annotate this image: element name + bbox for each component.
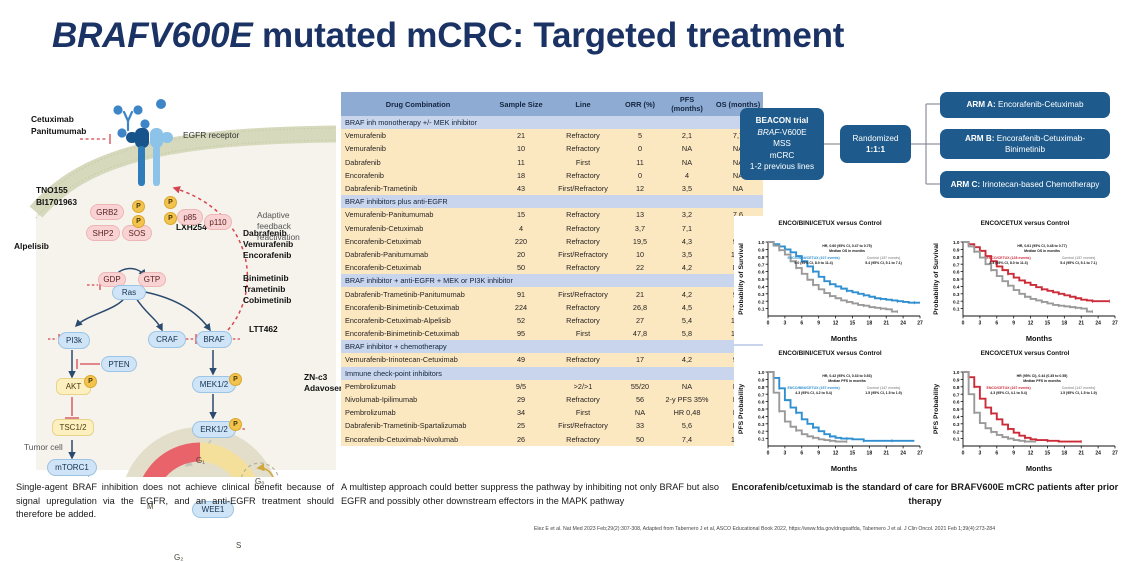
page-title-italic: BRAFV600E — [52, 16, 253, 55]
svg-text:ENCO/BINI/CETUX versus Control: ENCO/BINI/CETUX versus Control — [778, 220, 882, 227]
table-body: BRAF inh monotherapy +/- MEK inhibitorVe… — [341, 116, 763, 446]
svg-text:PFS Probability: PFS Probability — [738, 384, 745, 434]
cell-pfs: 3,5 — [661, 182, 713, 195]
svg-text:24: 24 — [900, 320, 906, 326]
cell-line: >2/>1 — [547, 380, 619, 393]
svg-text:Control (147 events): Control (147 events) — [867, 386, 901, 390]
cell-drug: Vemurafenib — [341, 129, 495, 142]
svg-text:0: 0 — [962, 450, 965, 456]
phospho-marker-icon-4: P — [164, 212, 177, 225]
cell-orr: 33 — [619, 419, 661, 432]
km-plot-svg: 0.10.20.30.40.50.60.70.80.91.00369121518… — [929, 346, 1121, 474]
page-title-rest: mutated mCRC: Targeted treatment — [253, 16, 845, 55]
svg-text:1.5 (95% CI, 1.5 to 1.9): 1.5 (95% CI, 1.5 to 1.9) — [865, 391, 902, 395]
cell-sample-size: 43 — [495, 182, 547, 195]
cell-orr: 5 — [619, 129, 661, 142]
tumor-cell-label: Tumor cell — [24, 442, 63, 453]
cell-sample-size: 34 — [495, 406, 547, 419]
svg-text:0.3: 0.3 — [758, 292, 765, 297]
cell-sample-size: 9/5 — [495, 380, 547, 393]
svg-text:27: 27 — [1112, 450, 1118, 456]
cell-pfs: NA — [661, 142, 713, 155]
arm-a-text: Encorafenib-Cetuximab — [996, 100, 1084, 109]
encorafenib-label: Encorafenib — [243, 250, 291, 261]
svg-text:1.0: 1.0 — [953, 370, 960, 375]
cell-sample-size: 21 — [495, 129, 547, 142]
beacon-trial-mcrc: mCRC — [770, 150, 795, 162]
arm-a-label: ARM A: — [966, 100, 995, 109]
cell-line: Refractory — [547, 129, 619, 142]
svg-text:Median OS in months: Median OS in months — [1024, 249, 1060, 253]
panitumumab-label: Panitumumab — [31, 126, 86, 137]
table-section-row: BRAF inhibitor + chemotherapy — [341, 340, 763, 353]
cell-sample-size: 50 — [495, 261, 547, 274]
km-plot-svg: 0.10.20.30.40.50.60.70.80.91.00369121518… — [734, 216, 926, 344]
svg-text:Median PFS in months: Median PFS in months — [828, 379, 866, 383]
table-row: Encorafenib18Refractory04NA — [341, 169, 763, 182]
svg-text:0.9: 0.9 — [758, 248, 765, 253]
svg-text:0.4: 0.4 — [953, 285, 960, 290]
km-chart-pfs-doublet: 0.10.20.30.40.50.60.70.80.91.00369121518… — [929, 346, 1121, 474]
svg-text:Control (157 events): Control (157 events) — [1062, 256, 1096, 260]
cell-drug: Encorafenib — [341, 169, 495, 182]
cell-drug: Dabrafenib-Panitumumab — [341, 248, 495, 261]
svg-text:0: 0 — [962, 320, 965, 326]
table-section-label: BRAF inhibitor + chemotherapy — [341, 340, 763, 353]
svg-text:15: 15 — [850, 450, 856, 456]
tsc12-node: TSC1/2 — [52, 419, 94, 436]
ras-node: Ras — [112, 285, 146, 300]
cell-pfs: 5,8 — [661, 327, 713, 340]
phospho-marker-icon-2: P — [132, 215, 145, 228]
svg-text:24: 24 — [1095, 320, 1101, 326]
svg-text:Control (157 events): Control (157 events) — [867, 256, 901, 260]
svg-text:PFS Probability: PFS Probability — [933, 384, 940, 434]
svg-text:24: 24 — [1095, 450, 1101, 456]
svg-text:3: 3 — [783, 320, 786, 326]
page-title: BRAFV600E mutated mCRC: Targeted treatme… — [52, 16, 1082, 62]
arm-c-label: ARM C: — [951, 180, 981, 189]
cell-orr: 56 — [619, 393, 661, 406]
svg-text:1.5 (95% CI, 1.5 to 1.9): 1.5 (95% CI, 1.5 to 1.9) — [1060, 391, 1097, 395]
svg-text:0: 0 — [767, 320, 770, 326]
svg-text:0.3: 0.3 — [953, 422, 960, 427]
svg-text:21: 21 — [883, 320, 889, 326]
cell-cycle-s-label: S — [236, 541, 241, 550]
svg-text:ENCO/BINI/CETUX (157 events): ENCO/BINI/CETUX (157 events) — [788, 386, 840, 390]
cell-pfs: 7,4 — [661, 433, 713, 446]
svg-text:Probability of Survival: Probability of Survival — [933, 243, 940, 315]
cell-sample-size: 25 — [495, 419, 547, 432]
svg-text:18: 18 — [1062, 320, 1068, 326]
phospho-marker-icon-7: P — [229, 418, 242, 431]
beacon-gene-rest: -V600E — [779, 128, 806, 137]
p85-node: p85 — [177, 209, 203, 225]
drug-combination-table: Drug Combination Sample Size Line ORR (%… — [341, 92, 763, 446]
cell-orr: NA — [619, 406, 661, 419]
gtp-node: GTP — [138, 272, 166, 287]
cell-orr: 11 — [619, 156, 661, 169]
svg-text:Median OS in months: Median OS in months — [829, 249, 865, 253]
cell-orr: 22 — [619, 261, 661, 274]
svg-text:0.4: 0.4 — [758, 415, 765, 420]
cell-sample-size: 15 — [495, 208, 547, 221]
cell-cycle-g1-label: G₁ — [196, 456, 205, 465]
svg-text:Months: Months — [1026, 334, 1052, 343]
cell-orr: 50 — [619, 433, 661, 446]
cell-drug: Encorafenib-Cetuximab-Nivolumab — [341, 433, 495, 446]
svg-text:27: 27 — [917, 320, 923, 326]
cell-pfs: 4,2 — [661, 353, 713, 366]
randomization-box: Randomized 1:1:1 — [840, 125, 911, 163]
svg-text:8.4 (95% CI, 8.0 to 11.3): 8.4 (95% CI, 8.0 to 11.3) — [989, 261, 1027, 265]
zn-c3-label: ZN-c3 — [304, 372, 327, 383]
p110-node: p110 — [204, 214, 232, 230]
svg-text:ENCO/CETUX (128 events): ENCO/CETUX (128 events) — [987, 256, 1031, 260]
cell-line: Refractory — [547, 314, 619, 327]
svg-text:0.2: 0.2 — [758, 429, 765, 434]
svg-text:18: 18 — [1062, 450, 1068, 456]
table-row: Vemurafenib-Panitumumab15Refractory133,2… — [341, 208, 763, 221]
cell-orr: 3,7 — [619, 222, 661, 235]
table-section-label: BRAF inhibitor + anti-EGFR + MEK or PI3K… — [341, 274, 763, 287]
arm-b-label: ARM B: — [965, 134, 995, 143]
phospho-marker-icon-3: P — [164, 196, 177, 209]
arm-b-text: Encorafenib-Cetuximab-Binimetinib — [995, 134, 1086, 155]
svg-text:27: 27 — [917, 450, 923, 456]
svg-text:0.6: 0.6 — [953, 270, 960, 275]
table-row: Encorafenib-Binimetinib-Cetuximab224Refr… — [341, 301, 763, 314]
cell-drug: Vemurafenib-Panitumumab — [341, 208, 495, 221]
svg-text:ENCO/BINI/CETUX (107 events): ENCO/BINI/CETUX (107 events) — [788, 256, 840, 260]
cell-sample-size: 52 — [495, 314, 547, 327]
table-section-row: BRAF inhibitor + anti-EGFR + MEK or PI3K… — [341, 274, 763, 287]
col-line: Line — [547, 92, 619, 116]
adaptive-feedback-line2: feedback — [257, 221, 291, 232]
caption-middle: A multistep approach could better suppre… — [341, 481, 719, 508]
arm-c-text: Irinotecan-based Chemotherapy — [980, 180, 1099, 189]
svg-text:Months: Months — [1026, 464, 1052, 473]
alpelisib-label: Alpelisib — [14, 241, 49, 252]
cell-drug: Encorafenib-Cetuximab — [341, 235, 495, 248]
tno155-label: TNO155 — [36, 185, 68, 196]
svg-text:ENCO/BINI/CETUX versus Control: ENCO/BINI/CETUX versus Control — [778, 350, 882, 357]
svg-text:0.9: 0.9 — [953, 248, 960, 253]
svg-text:9: 9 — [1012, 320, 1015, 326]
caption-right: Encorafenib/cetuximab is the standard of… — [730, 481, 1120, 508]
cell-pfs: NA — [661, 380, 713, 393]
cell-pfs: HR 0,48 — [661, 406, 713, 419]
cell-sample-size: 11 — [495, 156, 547, 169]
km-plot-svg: 0.10.20.30.40.50.60.70.80.91.00369121518… — [734, 346, 926, 474]
cell-line: Refractory — [547, 393, 619, 406]
cell-drug: Vemurafenib — [341, 142, 495, 155]
svg-text:HR (95% CI), 0.44 (0.35 to 0.5: HR (95% CI), 0.44 (0.35 to 0.55) — [1017, 374, 1068, 378]
craf-node: CRAF — [148, 331, 186, 348]
svg-text:4.3 (95% CI, 4.1 to 5.4): 4.3 (95% CI, 4.1 to 5.4) — [990, 391, 1027, 395]
cell-line: First/Refractory — [547, 248, 619, 261]
trametinib-label: Trametinib — [243, 284, 285, 295]
table-header-row: Drug Combination Sample Size Line ORR (%… — [341, 92, 763, 116]
beacon-trial-box: BEACON trial BRAF-V600E MSS mCRC 1-2 pre… — [740, 108, 824, 180]
svg-text:15: 15 — [1045, 320, 1051, 326]
svg-text:HR, 0.61 (95% CI, 0.48 to 0.77: HR, 0.61 (95% CI, 0.48 to 0.77) — [1017, 244, 1066, 248]
svg-text:0.7: 0.7 — [953, 392, 960, 397]
svg-text:ENCO/CETUX versus Control: ENCO/CETUX versus Control — [981, 350, 1070, 357]
table-section-label: Immune check-point inhibitors — [341, 367, 763, 380]
svg-text:21: 21 — [883, 450, 889, 456]
svg-text:15: 15 — [1045, 450, 1051, 456]
cell-drug: Vemurafenib-Cetuximab — [341, 222, 495, 235]
caption-left: Single-agent BRAF inhibition does not ac… — [16, 481, 334, 522]
cell-sample-size: 220 — [495, 235, 547, 248]
randomized-label: Randomized — [853, 133, 899, 145]
svg-text:0.8: 0.8 — [758, 255, 765, 260]
col-orr: ORR (%) — [619, 92, 661, 116]
svg-text:1.0: 1.0 — [953, 240, 960, 245]
cell-line: First/Refractory — [547, 287, 619, 300]
cell-sample-size: 91 — [495, 287, 547, 300]
svg-text:9: 9 — [817, 450, 820, 456]
cell-drug: Encorafenib-Cetuximab — [341, 261, 495, 274]
cell-orr: 55/20 — [619, 380, 661, 393]
cell-sample-size: 20 — [495, 248, 547, 261]
table-row: Vemurafenib10Refractory0NANA — [341, 142, 763, 155]
svg-text:0.7: 0.7 — [758, 392, 765, 397]
cell-orr: 21 — [619, 287, 661, 300]
svg-text:3: 3 — [978, 320, 981, 326]
table-row: Dabrafenib-Trametinib-Panitumumab91First… — [341, 287, 763, 300]
svg-text:0.7: 0.7 — [953, 262, 960, 267]
svg-text:9: 9 — [1012, 450, 1015, 456]
svg-text:18: 18 — [867, 450, 873, 456]
svg-text:Probability of Survival: Probability of Survival — [738, 243, 745, 315]
phospho-marker-icon-6: P — [229, 373, 242, 386]
arm-b-box: ARM B: Encorafenib-Cetuximab-Binimetinib — [940, 129, 1110, 159]
cell-drug: Nivolumab-Ipilimumab — [341, 393, 495, 406]
km-chart-os-triplet: 0.10.20.30.40.50.60.70.80.91.00369121518… — [734, 216, 926, 344]
cell-pfs: 3,5 — [661, 248, 713, 261]
cell-pfs: 4 — [661, 169, 713, 182]
svg-text:0.5: 0.5 — [758, 277, 765, 282]
cell-line: Refractory — [547, 142, 619, 155]
cell-pfs: 4,3 — [661, 235, 713, 248]
table-row: Encorafenib-Cetuximab50Refractory224,2NR — [341, 261, 763, 274]
cell-drug: Dabrafenib-Trametinib — [341, 182, 495, 195]
svg-text:0.1: 0.1 — [758, 307, 765, 312]
svg-text:0.5: 0.5 — [758, 407, 765, 412]
cell-orr: 27 — [619, 314, 661, 327]
svg-text:0.8: 0.8 — [758, 385, 765, 390]
pathway-diagram-panel: Cetuximab Panitumumab EGFR receptor TNO1… — [14, 92, 336, 477]
cell-line: Refractory — [547, 261, 619, 274]
cell-pfs: 4,5 — [661, 301, 713, 314]
svg-text:0.6: 0.6 — [758, 270, 765, 275]
table-row: Encorafenib-Binimetinib-Cetuximab95First… — [341, 327, 763, 340]
braf-node: BRAF — [196, 331, 232, 348]
binimetinib-label: Binimetinib — [243, 273, 289, 284]
citation-footer: Elez E et al. Nat Med 2023 Feb;29(2):307… — [400, 526, 1129, 532]
table-row: Vemurafenib-Cetuximab4Refractory3,77,1 — [341, 222, 763, 235]
svg-text:6: 6 — [995, 320, 998, 326]
adaptive-feedback-line1: Adaptive — [257, 210, 290, 221]
cell-sample-size: 49 — [495, 353, 547, 366]
svg-text:0.9: 0.9 — [953, 378, 960, 383]
km-chart-os-doublet: 0.10.20.30.40.50.60.70.80.91.00369121518… — [929, 216, 1121, 344]
svg-text:0.5: 0.5 — [953, 277, 960, 282]
table-section-row: BRAF inh monotherapy +/- MEK inhibitor — [341, 116, 763, 129]
svg-text:12: 12 — [1028, 450, 1034, 456]
table-row: Vemurafenib21Refractory52,17,7 — [341, 129, 763, 142]
svg-text:0.6: 0.6 — [758, 400, 765, 405]
cell-sample-size: 29 — [495, 393, 547, 406]
arm-c-box: ARM C: Irinotecan-based Chemotherapy — [940, 171, 1110, 198]
svg-text:18: 18 — [867, 320, 873, 326]
svg-text:3: 3 — [978, 450, 981, 456]
cell-orr: 26,8 — [619, 301, 661, 314]
svg-text:Control (147 events): Control (147 events) — [1062, 386, 1096, 390]
col-sample-size: Sample Size — [495, 92, 547, 116]
cell-sample-size: 4 — [495, 222, 547, 235]
svg-text:0: 0 — [767, 450, 770, 456]
svg-text:Months: Months — [831, 464, 857, 473]
svg-text:6: 6 — [800, 450, 803, 456]
svg-text:4.3 (95% CI, 4.2 to 5.4): 4.3 (95% CI, 4.2 to 5.4) — [795, 391, 832, 395]
cell-orr: 13 — [619, 208, 661, 221]
cell-line: Refractory — [547, 301, 619, 314]
beacon-trial-gene: BRAF-V600E — [757, 127, 806, 139]
svg-text:0.1: 0.1 — [758, 437, 765, 442]
grb2-node: GRB2 — [90, 204, 124, 220]
svg-text:9.0 (95% CI, 8.0 to 11.4): 9.0 (95% CI, 8.0 to 11.4) — [794, 261, 832, 265]
pi3k-node: PI3k — [58, 332, 90, 349]
cell-orr: 10 — [619, 248, 661, 261]
svg-text:HR, 0.42 (95% CI, 0.33 to 0.53: HR, 0.42 (95% CI, 0.33 to 0.53) — [822, 374, 871, 378]
cell-drug: Pembrolizumab — [341, 406, 495, 419]
beacon-gene-italic: BRAF — [757, 128, 779, 137]
cell-drug: Encorafenib-Binimetinib-Cetuximab — [341, 327, 495, 340]
cell-drug: Encorafenib-Binimetinib-Cetuximab — [341, 301, 495, 314]
table-row: Pembrolizumab9/5>2/>155/20NANA — [341, 380, 763, 393]
cell-line: Refractory — [547, 353, 619, 366]
cobimetinib-label: Cobimetinib — [243, 295, 291, 306]
svg-text:0.1: 0.1 — [953, 437, 960, 442]
table-row: Encorafenib-Cetuximab-Nivolumab26Refract… — [341, 433, 763, 446]
shp2-node: SHP2 — [86, 225, 120, 241]
cell-line: First — [547, 327, 619, 340]
svg-text:1.0: 1.0 — [758, 370, 765, 375]
svg-text:24: 24 — [900, 450, 906, 456]
svg-text:12: 12 — [833, 450, 839, 456]
cell-orr: 0 — [619, 142, 661, 155]
cell-pfs: 3,2 — [661, 208, 713, 221]
cetuximab-label: Cetuximab — [31, 114, 74, 125]
svg-text:1.0: 1.0 — [758, 240, 765, 245]
table-row: Nivolumab-Ipilimumab29Refractory562-y PF… — [341, 393, 763, 406]
svg-text:3: 3 — [783, 450, 786, 456]
km-plot-svg: 0.10.20.30.40.50.60.70.80.91.00369121518… — [929, 216, 1121, 344]
cell-line: First — [547, 156, 619, 169]
cell-pfs: 5,4 — [661, 314, 713, 327]
ltt462-label: LTT462 — [249, 324, 278, 335]
cell-orr: 0 — [619, 169, 661, 182]
cell-line: Refractory — [547, 222, 619, 235]
table-row: Dabrafenib-Trametinib43First/Refractory1… — [341, 182, 763, 195]
svg-text:0.5: 0.5 — [953, 407, 960, 412]
svg-text:0.3: 0.3 — [758, 422, 765, 427]
svg-text:15: 15 — [850, 320, 856, 326]
svg-text:0.9: 0.9 — [758, 378, 765, 383]
svg-text:27: 27 — [1112, 320, 1118, 326]
svg-text:6: 6 — [995, 450, 998, 456]
bi1701963-label: BI1701963 — [36, 197, 77, 208]
svg-text:0.4: 0.4 — [758, 285, 765, 290]
table-row: Vemurafenib-Irinotecan-Cetuximab49Refrac… — [341, 353, 763, 366]
table-row: Encorafenib-Cetuximab-Alpelisib52Refract… — [341, 314, 763, 327]
cell-pfs: 4,2 — [661, 261, 713, 274]
svg-text:6: 6 — [800, 320, 803, 326]
svg-text:12: 12 — [833, 320, 839, 326]
cell-pfs: 7,1 — [661, 222, 713, 235]
phospho-marker-icon-5: P — [84, 375, 97, 388]
cell-orr: 19,5 — [619, 235, 661, 248]
km-chart-pfs-triplet: 0.10.20.30.40.50.60.70.80.91.00369121518… — [734, 346, 926, 474]
drug-combination-table-panel: Drug Combination Sample Size Line ORR (%… — [341, 92, 722, 477]
cell-pfs: 2-y PFS 35% — [661, 393, 713, 406]
mtorc1-node: mTORC1 — [47, 459, 97, 476]
svg-text:0.2: 0.2 — [758, 299, 765, 304]
svg-text:21: 21 — [1078, 450, 1084, 456]
cell-pfs: 4,2 — [661, 287, 713, 300]
arm-a-box: ARM A: Encorafenib-Cetuximab — [940, 92, 1110, 118]
randomization-ratio: 1:1:1 — [866, 144, 885, 156]
cell-line: First/Refractory — [547, 182, 619, 195]
cell-pfs: 2,1 — [661, 129, 713, 142]
svg-text:5.4 (95% CI, 5.1 to 7.1): 5.4 (95% CI, 5.1 to 7.1) — [1060, 261, 1097, 265]
cell-drug: Pembrolizumab — [341, 380, 495, 393]
cell-line: Refractory — [547, 208, 619, 221]
cell-line: Refractory — [547, 235, 619, 248]
phospho-marker-icon-1: P — [132, 200, 145, 213]
svg-text:Months: Months — [831, 334, 857, 343]
svg-text:12: 12 — [1028, 320, 1034, 326]
svg-text:0.2: 0.2 — [953, 299, 960, 304]
svg-text:0.8: 0.8 — [953, 255, 960, 260]
col-pfs: PFS (months) — [661, 92, 713, 116]
beacon-trial-name: BEACON trial — [756, 115, 809, 127]
svg-text:9: 9 — [817, 320, 820, 326]
table-row: Dabrafenib-Panitumumab20First/Refractory… — [341, 248, 763, 261]
table-section-row: Immune check-point inhibitors — [341, 367, 763, 380]
svg-text:HR, 0.60 (95% CI, 0.47 to 0.75: HR, 0.60 (95% CI, 0.47 to 0.75) — [822, 244, 871, 248]
cell-line: Refractory — [547, 169, 619, 182]
cell-drug: Encorafenib-Cetuximab-Alpelisib — [341, 314, 495, 327]
cell-sample-size: 95 — [495, 327, 547, 340]
adaptive-feedback-line3: reactivation — [257, 232, 300, 243]
table-row: Dabrafenib11First11NANA — [341, 156, 763, 169]
svg-text:0.7: 0.7 — [758, 262, 765, 267]
cell-orr: 12 — [619, 182, 661, 195]
svg-text:ENCO/CETUX (167 events): ENCO/CETUX (167 events) — [987, 386, 1031, 390]
egfr-receptor-label: EGFR receptor — [183, 130, 239, 141]
cell-sample-size: 18 — [495, 169, 547, 182]
cell-pfs: NA — [661, 156, 713, 169]
cell-drug: Dabrafenib — [341, 156, 495, 169]
cell-line: First/Refractory — [547, 419, 619, 432]
cell-orr: 47,8 — [619, 327, 661, 340]
svg-text:ENCO/CETUX versus Control: ENCO/CETUX versus Control — [981, 220, 1070, 227]
svg-text:Median PFS in months: Median PFS in months — [1023, 379, 1061, 383]
